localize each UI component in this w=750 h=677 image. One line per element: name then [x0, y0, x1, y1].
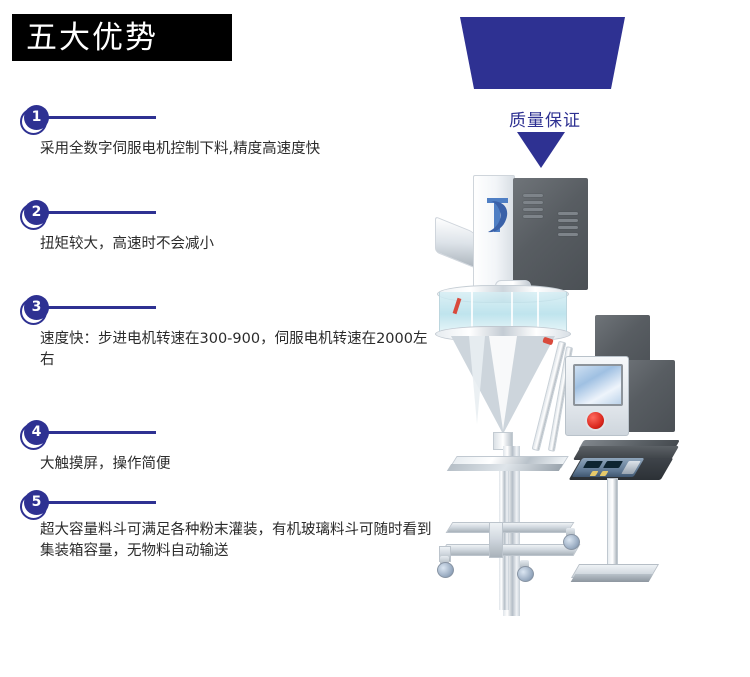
hopper-rib [537, 292, 539, 330]
quality-badge: 质量保证 [455, 14, 635, 174]
machine-work-shelf-edge [447, 464, 563, 471]
cone-highlight [489, 336, 517, 430]
hopper-rib [471, 292, 473, 330]
scale-stand-post [607, 478, 618, 570]
advantage-item-2: 2 扭矩较大，高速时不会减小 [0, 200, 430, 230]
advantage-item-5: 5 超大容量料斗可满足各种粉末灌装，有机玻璃料斗可随时看到集装箱容量，无物料自动… [0, 490, 430, 520]
badge-rule-1 [46, 116, 156, 119]
promo-page: 五大优势 1 采用全数字伺服电机控制下料,精度高速度快 2 扭矩较大，高速时不会… [0, 0, 750, 677]
badge-rule-2 [46, 211, 156, 214]
hopper-rib [511, 292, 513, 330]
arrow-trapezoid-icon [460, 17, 625, 89]
cone-highlight [469, 336, 485, 424]
badge-rule-3 [46, 306, 156, 309]
brand-logo-icon [477, 192, 511, 238]
advantage-item-3: 3 速度快：步进电机转速在300-900，伺服电机转速在2000左右 [0, 295, 430, 325]
advantage-text-3: 速度快：步进电机转速在300-900，伺服电机转速在2000左右 [40, 329, 430, 371]
emergency-stop-button[interactable] [585, 410, 606, 431]
advantage-item-4: 4 大触摸屏，操作简便 [0, 420, 430, 450]
machine-caster-wheel [517, 560, 533, 580]
machine-caster-wheel [437, 556, 453, 576]
machine-base-bar [440, 544, 581, 556]
advantage-text-5: 超大容量料斗可满足各种粉末灌装，有机玻璃料斗可随时看到集装箱容量，无物料自动输送 [40, 520, 435, 562]
machine-control-cabinet-panel [513, 178, 588, 290]
machine-base-bar [446, 522, 575, 533]
advantage-text-2: 扭矩较大，高速时不会减小 [40, 234, 425, 255]
product-photo [425, 170, 725, 630]
advantage-text-4: 大触摸屏，操作简便 [40, 454, 425, 475]
advantage-item-1: 1 采用全数字伺服电机控制下料,精度高速度快 [0, 105, 430, 135]
page-title: 五大优势 [26, 20, 158, 56]
quality-badge-label: 质量保证 [455, 106, 635, 131]
badge-rule-4 [46, 431, 156, 434]
advantage-text-1: 采用全数字伺服电机控制下料,精度高速度快 [40, 139, 425, 160]
machine-touchscreen[interactable] [573, 364, 623, 406]
machine-caster-wheel [563, 528, 579, 548]
badge-rule-5 [46, 501, 156, 504]
machine-base-crossbar [489, 522, 503, 558]
arrow-triangle-icon [517, 132, 565, 168]
scale-base-plate-edge [571, 574, 654, 582]
